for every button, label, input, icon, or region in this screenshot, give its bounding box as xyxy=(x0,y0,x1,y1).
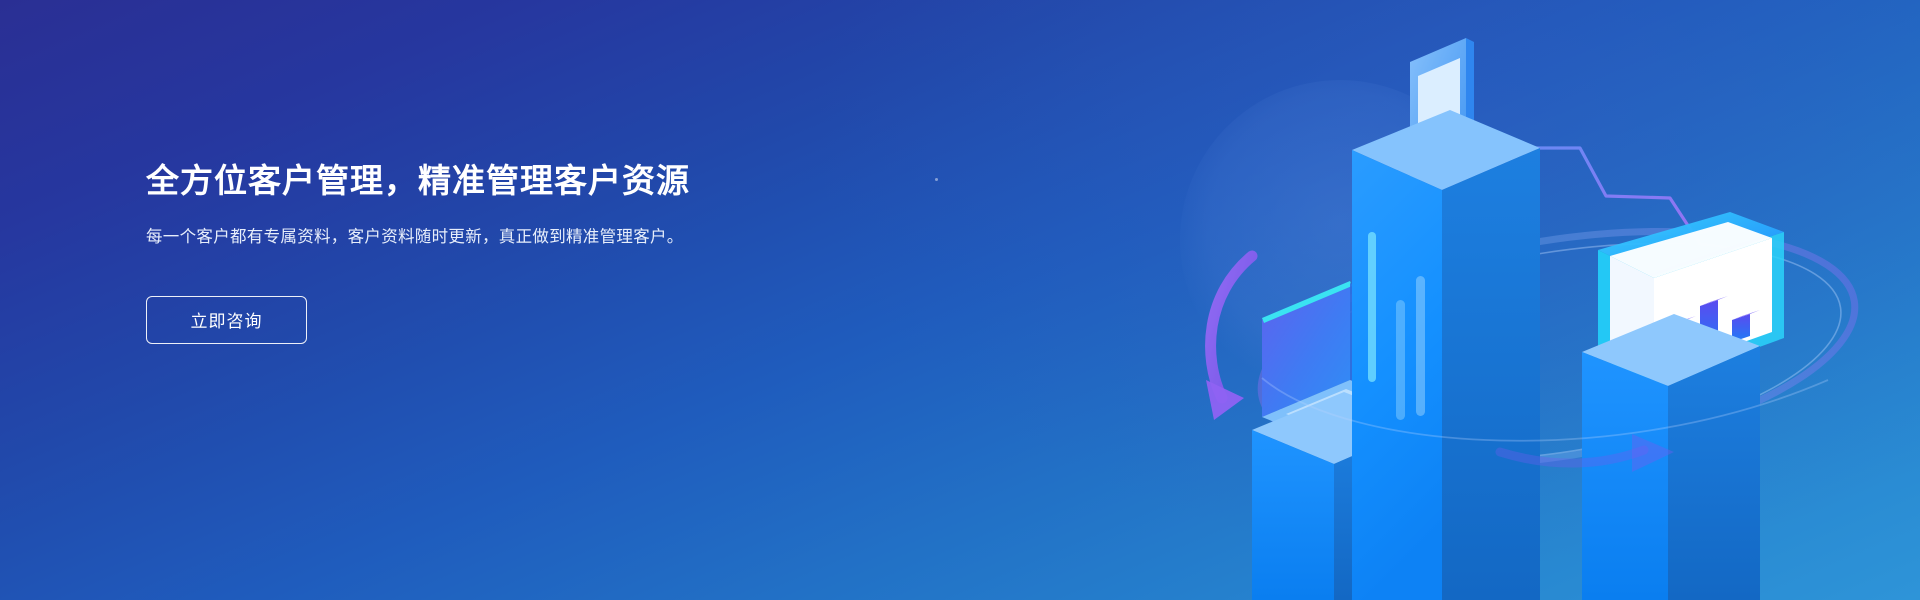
arrow-left-down-icon xyxy=(1206,256,1252,420)
hero-banner: 全方位客户管理，精准管理客户资源 每一个客户都有专属资料，客户资料随时更新，真正… xyxy=(0,0,1920,600)
pillar-right xyxy=(1582,212,1784,600)
hero-subtitle: 每一个客户都有专属资料，客户资料随时更新，真正做到精准管理客户。 xyxy=(146,225,731,251)
consult-now-button[interactable]: 立即咨询 xyxy=(146,296,307,344)
hero-copy-block: 全方位客户管理，精准管理客户资源 每一个客户都有专属资料，客户资料随时更新，真正… xyxy=(146,160,786,344)
background-speck-dot xyxy=(935,178,938,181)
pillar-center xyxy=(1352,38,1540,600)
hero-illustration xyxy=(1200,0,1920,600)
page-title: 全方位客户管理，精准管理客户资源 xyxy=(146,160,786,201)
